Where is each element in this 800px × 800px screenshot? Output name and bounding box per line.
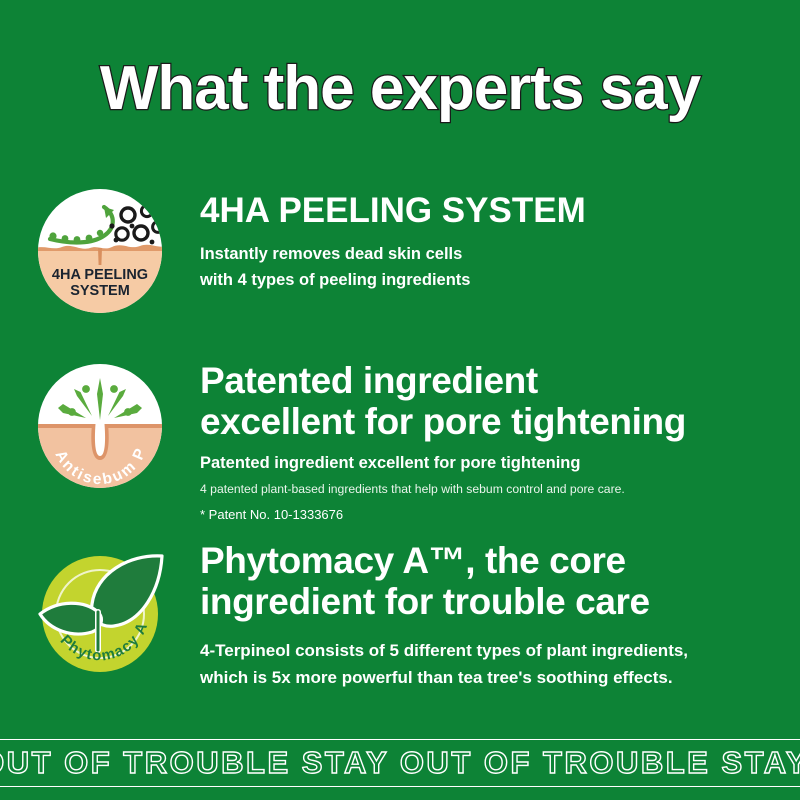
feature-text-phytomacy-a: Phytomacy A™, the core ingredient for tr… — [200, 540, 800, 691]
feature-sub-peeling-system: Instantly removes dead skin cells with 4… — [200, 242, 776, 293]
feature-heading-line: Phytomacy A™, the core — [200, 540, 776, 581]
feature-row-phytomacy-a: Phytomacy A™ Phytomacy A™, the core ingr… — [0, 540, 800, 705]
page-title: What the experts say — [0, 56, 800, 121]
feature-heading-patented-ingredient: Patented ingredient excellent for pore t… — [200, 360, 776, 443]
feature-heading-peeling-system: 4HA PEELING SYSTEM — [200, 185, 776, 230]
feature-fine-print-patented-ingredient: 4 patented plant-based ingredients that … — [200, 480, 776, 500]
feature-heading-line: Patented ingredient — [200, 360, 776, 401]
feature-row-peeling-system: 4HA PEELING SYSTEM 4HA PEELING SYSTEM In… — [0, 185, 800, 360]
feature-sub-patented-ingredient: Patented ingredient excellent for pore t… — [200, 451, 776, 477]
phytomacy-a-icon: Phytomacy A™ — [30, 542, 170, 682]
icon-cell-antisebum-p: Antisebum P — [0, 360, 200, 490]
feature-heading-line: ingredient for trouble care — [200, 581, 776, 622]
feature-heading-phytomacy-a: Phytomacy A™, the core ingredient for tr… — [200, 540, 776, 623]
icon-cell-phytomacy-a: Phytomacy A™ — [0, 540, 200, 682]
features-list: 4HA PEELING SYSTEM 4HA PEELING SYSTEM In… — [0, 185, 800, 705]
feature-sub-line: 4-Terpineol consists of 5 different type… — [200, 637, 776, 664]
antisebum-p-icon: Antisebum P — [36, 362, 164, 490]
peeling-icon-label-line1: 4HA PEELING — [52, 267, 148, 283]
peeling-system-icon: 4HA PEELING SYSTEM — [36, 187, 164, 315]
icon-cell-peeling-system: 4HA PEELING SYSTEM — [0, 185, 200, 315]
feature-patent-note: * Patent No. 10-1333676 — [200, 505, 776, 526]
marquee-banner-text: STAY OUT OF TROUBLE STAY OUT OF TROUBLE … — [0, 745, 800, 781]
feature-sub-line: with 4 types of peeling ingredients — [200, 268, 776, 294]
peeling-icon-label-line2: SYSTEM — [70, 283, 130, 299]
marquee-banner: STAY OUT OF TROUBLE STAY OUT OF TROUBLE … — [0, 739, 800, 787]
feature-heading-line: excellent for pore tightening — [200, 401, 776, 442]
feature-text-peeling-system: 4HA PEELING SYSTEM Instantly removes dea… — [200, 185, 800, 293]
feature-row-patented-ingredient: Antisebum P Patented ingredient excellen… — [0, 360, 800, 540]
feature-text-patented-ingredient: Patented ingredient excellent for pore t… — [200, 360, 800, 526]
feature-sub-line: which is 5x more powerful than tea tree'… — [200, 664, 776, 691]
feature-sub-phytomacy-a: 4-Terpineol consists of 5 different type… — [200, 637, 776, 691]
feature-sub-line: Instantly removes dead skin cells — [200, 242, 776, 268]
